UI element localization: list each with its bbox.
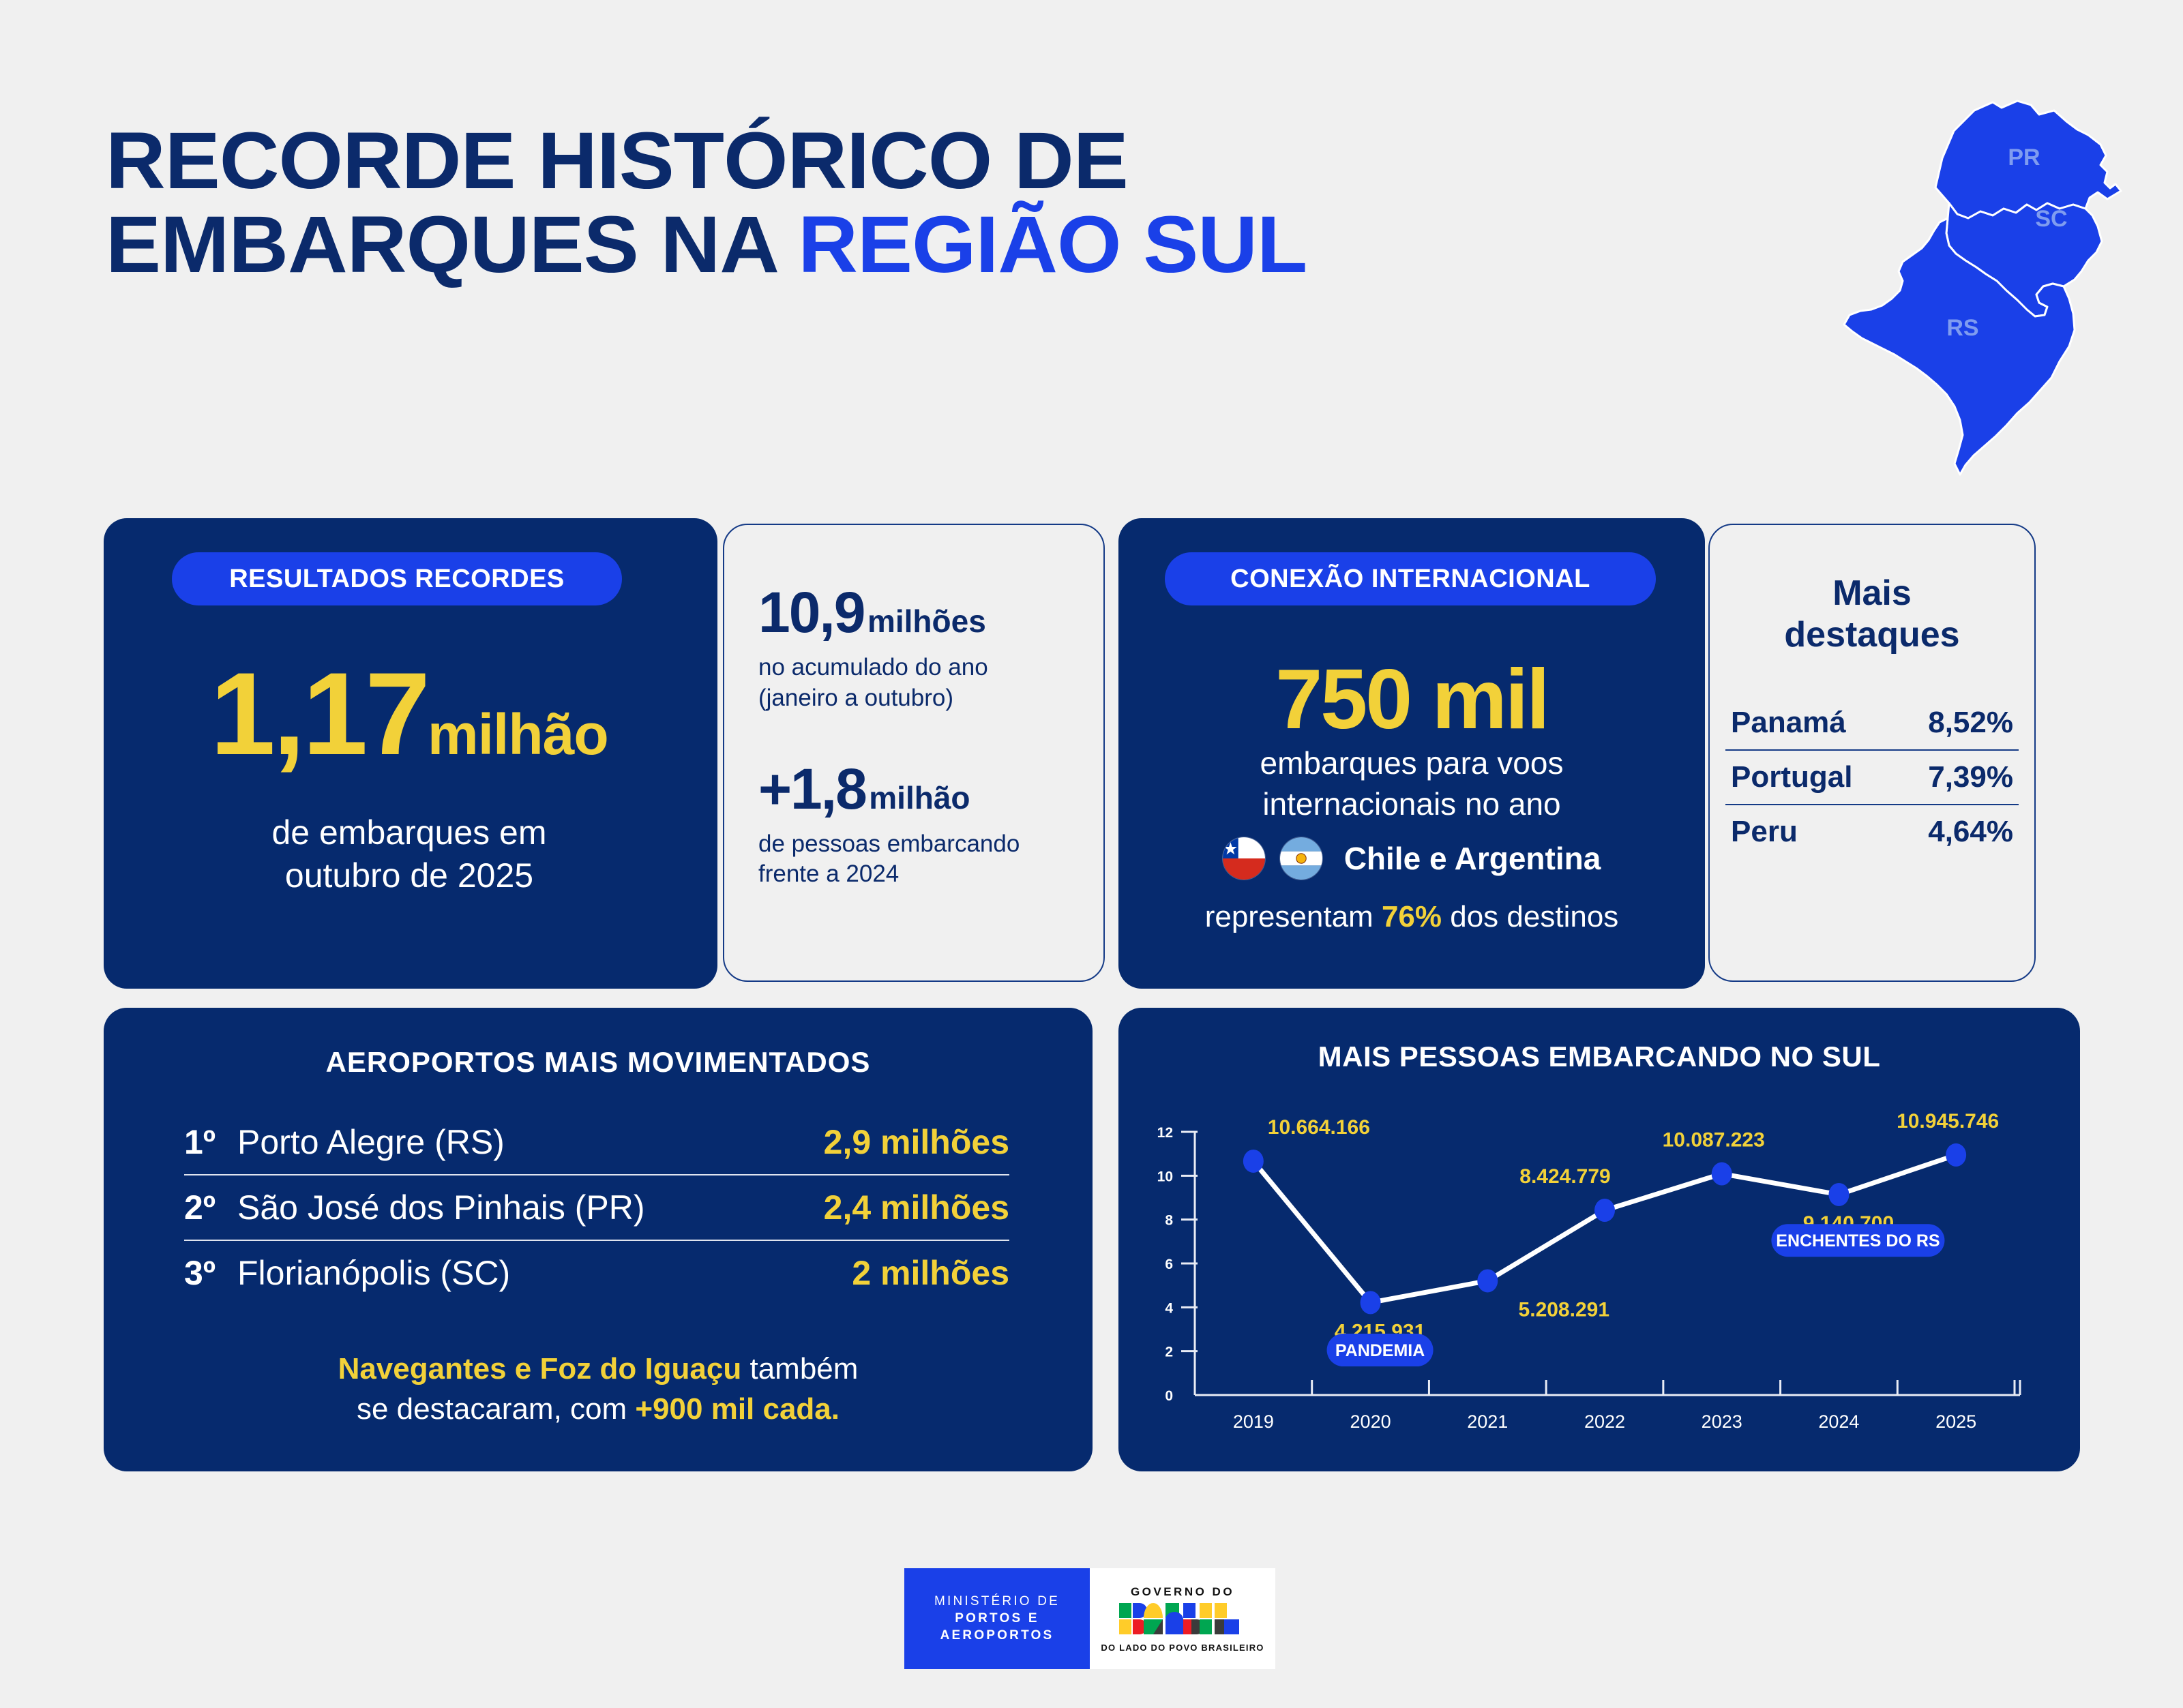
airports-footnote: Navegantes e Foz do Iguaçu também se des… [158, 1349, 1038, 1430]
stat-growth-number: +1,8 [758, 757, 866, 821]
footnote-percent: 76% [1382, 900, 1442, 933]
data-point-marker [1712, 1163, 1732, 1186]
stat-growth: +1,8 milhão de pessoas embarcando frente… [758, 756, 1079, 890]
chile-flag-icon [1223, 837, 1265, 880]
stat-accumulated-unit: milhões [867, 603, 986, 639]
international-description: embarques para voos internacionais no an… [1118, 743, 1705, 825]
data-point-marker [1477, 1269, 1498, 1292]
chart-annotation-badge: ENCHENTES DO RS [1771, 1224, 1944, 1257]
ministry-logo: MINISTÉRIO DE PORTOS E AEROPORTOS [904, 1568, 1090, 1669]
data-point-marker [1594, 1199, 1615, 1222]
footer-logos: MINISTÉRIO DE PORTOS E AEROPORTOS GOVERN… [904, 1568, 1275, 1669]
data-point-label: 10.664.166 [1268, 1116, 1370, 1139]
y-tick-label: 10 [1157, 1169, 1173, 1184]
page-header: RECORDE HISTÓRICO DE EMBARQUES NA REGIÃO… [106, 119, 1811, 286]
results-secondary-stats: 10,9 milhões no acumulado do ano (janeir… [758, 580, 1079, 890]
y-tick-label: 8 [1165, 1213, 1173, 1229]
international-footnote: representam 76% dos destinos [1118, 900, 1705, 934]
data-point-marker [1361, 1291, 1381, 1314]
ministry-line-2: PORTOS E [955, 1611, 1039, 1626]
highlights-title: Mais destaques [1725, 573, 2019, 657]
countries-label: Chile e Argentina [1344, 840, 1601, 877]
chart-card: MAIS PESSOAS EMBARCANDO NO SUL 024681012… [1118, 1008, 2080, 1471]
embarkations-line-chart: 024681012201920202021202220232024202510.… [1118, 1096, 2080, 1458]
x-tick-label: 2023 [1702, 1411, 1742, 1432]
highlight-row: Portugal 7,39% [1725, 751, 2019, 804]
page-title-accent: REGIÃO SUL [798, 200, 1307, 290]
x-tick-label: 2020 [1350, 1411, 1391, 1432]
footnote-post: dos destinos [1442, 900, 1618, 933]
highlights-list: Panamá 8,52% Portugal 7,39% Peru 4,64% [1725, 696, 2019, 858]
international-badge: CONEXÃO INTERNACIONAL [1165, 552, 1656, 605]
ministry-line-1: MINISTÉRIO DE [934, 1594, 1060, 1609]
gov-top-label: GOVERNO DO [1131, 1585, 1234, 1599]
airports-list: 1º Porto Alegre (RS) 2,9 milhões 2º São … [184, 1110, 1009, 1305]
map-label-rs: RS [1946, 315, 1978, 341]
airport-row: 1º Porto Alegre (RS) 2,9 milhões [184, 1110, 1009, 1174]
ministry-line-3: AEROPORTOS [940, 1628, 1054, 1643]
stat-growth-value-row: +1,8 milhão [758, 756, 1079, 822]
international-desc-2: internacionais no ano [1262, 786, 1560, 822]
y-tick-label: 4 [1165, 1300, 1173, 1316]
y-tick-label: 0 [1165, 1388, 1173, 1404]
page-title-line-1: RECORDE HISTÓRICO DE [106, 119, 1862, 203]
x-tick-label: 2019 [1233, 1411, 1274, 1432]
airport-row: 3º Florianópolis (SC) 2 milhões [184, 1241, 1009, 1305]
results-big-unit: milhão [428, 702, 608, 766]
highlights-title-2: destaques [1784, 615, 1959, 655]
y-tick-label: 2 [1165, 1345, 1173, 1360]
footnote-text-2: se destacaram, com [357, 1392, 635, 1426]
airport-rank: 3º [184, 1253, 237, 1293]
data-point-marker [1828, 1183, 1849, 1206]
stat-accumulated-number: 10,9 [758, 580, 865, 644]
stat-accumulated-desc: no acumulado do ano (janeiro a outubro) [758, 653, 1079, 714]
map-label-pr: PR [2008, 145, 2040, 170]
page-title-text: EMBARQUES NA [106, 200, 798, 290]
international-big-number: 750 mil [1118, 651, 1705, 748]
government-logo: GOVERNO DO DO LADO [1090, 1568, 1275, 1669]
footnote-pre: representam [1205, 900, 1382, 933]
highlights-panel: Mais destaques Panamá 8,52% Portugal 7,3… [1725, 573, 2019, 858]
countries-row: Chile e Argentina [1118, 837, 1705, 880]
brasil-wordmark-icon [1118, 1599, 1247, 1640]
airport-name: São José dos Pinhais (PR) [237, 1188, 824, 1227]
airport-rank: 2º [184, 1188, 237, 1227]
stat-growth-desc-1: de pessoas embarcando [758, 830, 1020, 857]
x-tick-label: 2022 [1584, 1411, 1625, 1432]
highlight-country: Peru [1731, 815, 1798, 849]
highlight-value: 8,52% [1928, 706, 2013, 740]
map-state-pr: PR [1935, 101, 2121, 218]
results-big-number: 1,17 [210, 648, 428, 779]
results-description: de embarques em outubro de 2025 [136, 811, 682, 897]
data-point-label: 8.424.779 [1519, 1165, 1610, 1188]
highlight-country: Panamá [1731, 706, 1846, 740]
annotation-label: ENCHENTES DO RS [1776, 1231, 1940, 1250]
highlights-title-1: Mais [1832, 573, 1912, 613]
x-tick-label: 2021 [1467, 1411, 1508, 1432]
airports-title: AEROPORTOS MAIS MOVIMENTADOS [104, 1046, 1093, 1079]
airport-rank: 1º [184, 1122, 237, 1162]
gov-bottom-label: DO LADO DO POVO BRASILEIRO [1101, 1643, 1264, 1653]
stat-growth-unit: milhão [869, 780, 970, 815]
highlight-country: Portugal [1731, 760, 1852, 794]
results-headline: 1,17milhão [136, 661, 682, 768]
results-desc-2: outubro de 2025 [285, 856, 533, 895]
highlight-value: 7,39% [1928, 760, 2013, 794]
highlight-value: 4,64% [1928, 815, 2013, 849]
stat-growth-desc-2: frente a 2024 [758, 860, 899, 887]
airport-value: 2 milhões [852, 1253, 1009, 1293]
stat-growth-desc: de pessoas embarcando frente a 2024 [758, 829, 1079, 890]
data-point-marker [1243, 1150, 1264, 1173]
international-desc-1: embarques para voos [1260, 745, 1564, 781]
argentina-flag-icon [1280, 837, 1322, 880]
data-point-label: 10.087.223 [1663, 1129, 1765, 1152]
data-point-marker [1946, 1143, 1966, 1167]
chart-title: MAIS PESSOAS EMBARCANDO NO SUL [1118, 1040, 2080, 1073]
page-title-line-2: EMBARQUES NA REGIÃO SUL [106, 203, 1862, 287]
map-label-sc: SC [2035, 206, 2067, 232]
airport-name: Florianópolis (SC) [237, 1253, 852, 1293]
results-desc-1: de embarques em [271, 813, 546, 852]
x-tick-label: 2025 [1935, 1411, 1976, 1432]
stat-accumulated-desc-1: no acumulado do ano [758, 654, 988, 680]
airports-card: AEROPORTOS MAIS MOVIMENTADOS 1º Porto Al… [104, 1008, 1093, 1471]
results-badge: RESULTADOS RECORDES [172, 552, 622, 605]
international-card: CONEXÃO INTERNACIONAL 750 mil embarques … [1118, 518, 1705, 989]
airport-row: 2º São José dos Pinhais (PR) 2,4 milhões [184, 1175, 1009, 1240]
x-tick-label: 2024 [1818, 1411, 1859, 1432]
annotation-label: PANDEMIA [1335, 1341, 1425, 1360]
footnote-bold-1: Navegantes e Foz do Iguaçu [338, 1352, 742, 1385]
footnote-text-1: também [741, 1352, 858, 1385]
highlight-row: Panamá 8,52% [1725, 696, 2019, 749]
results-card: RESULTADOS RECORDES 1,17milhão de embarq… [104, 518, 717, 989]
airport-value: 2,9 milhões [824, 1122, 1009, 1162]
regiao-sul-map: PR SC RS [1835, 82, 2148, 491]
airport-value: 2,4 milhões [824, 1188, 1009, 1227]
footnote-bold-2: +900 mil cada. [635, 1392, 840, 1426]
data-point-label: 5.208.291 [1519, 1298, 1609, 1321]
stat-accumulated: 10,9 milhões no acumulado do ano (janeir… [758, 580, 1079, 714]
highlight-row: Peru 4,64% [1725, 805, 2019, 858]
stat-accumulated-desc-2: (janeiro a outubro) [758, 685, 953, 711]
stat-accumulated-value-row: 10,9 milhões [758, 580, 1079, 646]
y-tick-label: 6 [1165, 1257, 1173, 1272]
y-tick-label: 12 [1157, 1125, 1173, 1141]
airport-name: Porto Alegre (RS) [237, 1122, 824, 1162]
chart-annotation-badge: PANDEMIA [1327, 1334, 1434, 1366]
data-point-label: 10.945.746 [1897, 1110, 1999, 1133]
